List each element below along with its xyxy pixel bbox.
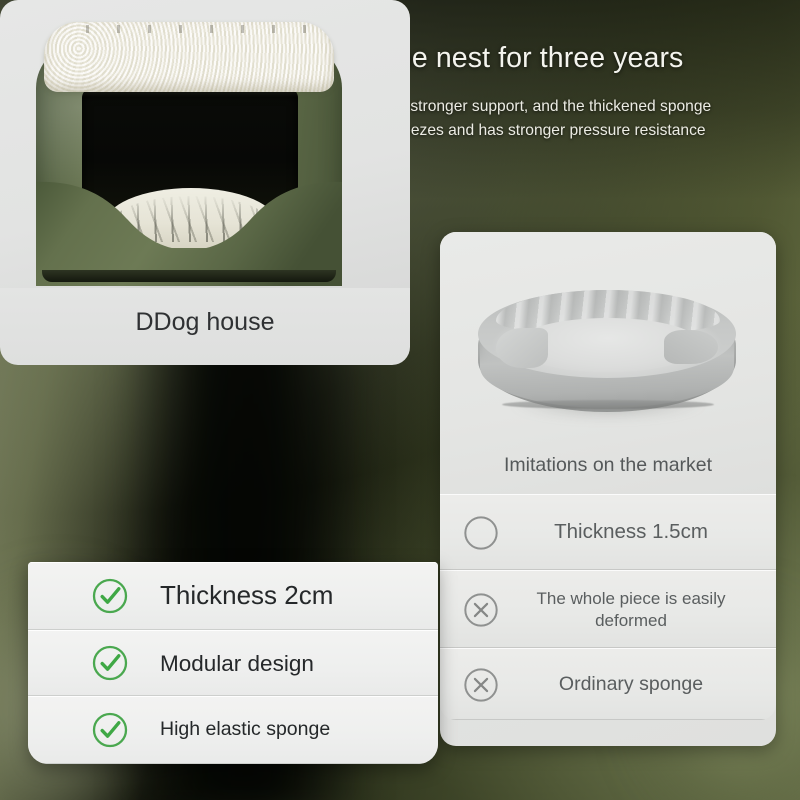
bed-rim-left-lip xyxy=(496,328,548,368)
check-circle-icon xyxy=(90,643,130,683)
competitor-feature-label: Thickness 1.5cm xyxy=(500,519,766,545)
competitor-feature-label: The whole piece is easily deformed xyxy=(500,588,766,632)
x-circle-icon xyxy=(462,514,500,552)
check-circle-icon xyxy=(90,710,130,750)
dog-house-base-edge xyxy=(42,270,336,282)
brand-product-photo: helloleibooPet life xyxy=(0,0,410,288)
dog-house-pad-stitching xyxy=(58,25,322,33)
brand-feature-list: Thickness 2cm Modular design High elasti… xyxy=(28,562,438,764)
competitor-feature-label: Ordinary sponge xyxy=(500,672,766,697)
x-circle-icon xyxy=(462,591,500,629)
brand-feature-row: Modular design xyxy=(28,630,438,696)
brand-feature-row: Thickness 2cm xyxy=(28,562,438,630)
bed-rim-right-lip xyxy=(664,330,718,364)
check-circle-icon xyxy=(90,576,130,616)
brand-product-card: helloleibooPet life DDog house xyxy=(0,0,410,365)
x-circle-icon xyxy=(462,666,500,704)
brand-feature-label: Thickness 2cm xyxy=(160,580,333,611)
brand-feature-label: Modular design xyxy=(160,650,314,677)
competitor-feature-row: Thickness 1.5cm xyxy=(440,494,776,570)
competitor-feature-row: Ordinary sponge xyxy=(440,648,776,720)
competitor-card: Imitations on the market Thickness 1.5cm xyxy=(440,232,776,746)
brand-caption-panel: DDog house xyxy=(0,288,410,365)
competitor-feature-list: Thickness 1.5cm The whole piece is easil… xyxy=(440,494,776,720)
brand-feature-row: High elastic sponge xyxy=(28,696,438,764)
competitor-feature-row: The whole piece is easily deformed xyxy=(440,570,776,648)
product-comparison-image: Upgrade support for one nest for three y… xyxy=(0,0,800,800)
competitor-caption: Imitations on the market xyxy=(440,454,776,477)
bed-bottom-edge xyxy=(502,400,714,409)
brand-feature-label: High elastic sponge xyxy=(160,718,330,741)
brand-caption: DDog house xyxy=(0,308,410,337)
